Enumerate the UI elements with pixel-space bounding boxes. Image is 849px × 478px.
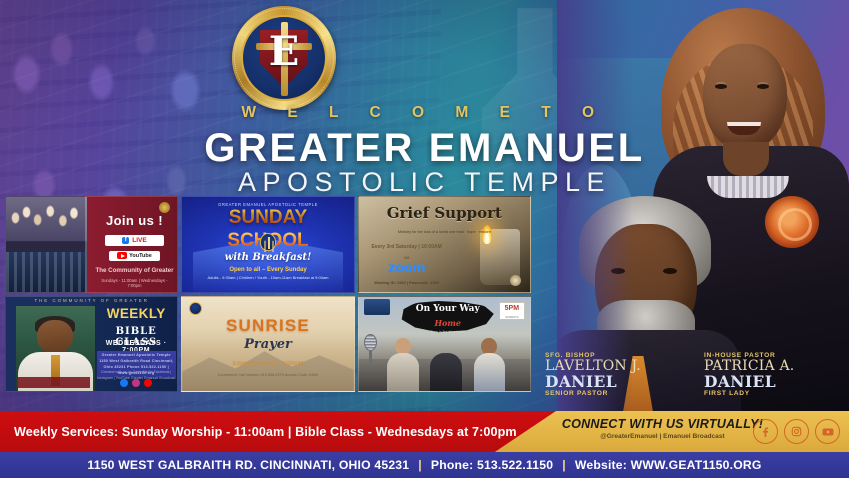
logo-monogram: E [232, 32, 336, 72]
facebook-icon[interactable] [753, 419, 778, 444]
grief-support-meeting: Meeting ID: 1150 | Passcode: 1150 [366, 280, 448, 285]
footer-phone: Phone: 513.522.1150 [431, 458, 553, 472]
broadcast-logo [364, 299, 390, 315]
church-welcome-banner: E W E L C O M E T O GREATER EMANUEL APOS… [0, 0, 849, 478]
bishop-eye-right [663, 268, 677, 274]
sunday-school-open-line: Open to all – Every Sunday [182, 267, 353, 273]
first-lady-last-name: DANIEL [704, 374, 849, 390]
sunday-school-script: with Breakfast! [182, 252, 353, 263]
flyer-sunrise-prayer[interactable]: SUNRISE Prayer Every Weekday | 6:00AM Co… [181, 296, 354, 393]
host-2 [428, 338, 463, 391]
flyer-grid: Join us ! f LIVE YouTube The Community o… [5, 196, 531, 392]
facebook-icon: f [122, 237, 129, 244]
footer-website[interactable]: Website: WWW.GEAT1150.ORG [575, 458, 762, 472]
pastor-couple-portrait [557, 0, 849, 411]
youtube-label: YouTube [129, 253, 152, 259]
flyer-grief-support[interactable]: Grief Support Ministry for the loss of a… [358, 196, 531, 293]
community-line: The Community of Greater [95, 267, 174, 274]
sunrise-when: Every Weekday | 6:00AM [182, 361, 353, 367]
sunday-school-eyebrow: GREATER EMANUEL APOSTOLIC TEMPLE [182, 202, 353, 207]
pastor-block-first-lady: IN-HOUSE PASTOR PATRICIA A. DANIEL FIRST… [690, 352, 849, 411]
flyer-on-your-way-home[interactable]: 5PM SUNDAYS On Your Way Home Tune in the… [358, 296, 531, 393]
sunday-school-details: Adults - 9:30am | Children / Youth - 10a… [182, 275, 353, 281]
flyer-sunday-school[interactable]: GREATER EMANUEL APOSTOLIC TEMPLE SUNDAY … [181, 196, 354, 293]
social-handle-text: @GreaterEmanuel | Emanuel Broadcast [560, 433, 765, 440]
church-subtitle: APOSTOLIC TEMPLE [0, 167, 849, 198]
host-3 [471, 338, 506, 391]
show-hosts [383, 338, 510, 391]
facebook-live-label: LIVE [132, 237, 146, 244]
oywh-line2: Home [403, 318, 492, 328]
oywh-tagline: Tune in the drive home [403, 330, 492, 334]
pastor-block-bishop: SFG. BISHOP LAVELTON J. DANIEL SENIOR PA… [531, 352, 690, 411]
grief-support-seal-icon [510, 275, 521, 286]
airtime-sub: SUNDAYS [500, 315, 524, 319]
grief-support-schedule: Every 3rd Saturday | 10:00AM [366, 244, 448, 250]
instagram-icon [132, 379, 140, 387]
church-logo: E [232, 6, 336, 110]
microphone-icon [364, 334, 377, 364]
youtube-icon [117, 252, 127, 259]
youtube-badge[interactable]: YouTube [109, 251, 160, 261]
bible-class-eyebrow: THE COMMUNITY OF GREATER [6, 298, 177, 303]
first-lady-eye-left [715, 84, 727, 89]
weekly-services-text: Weekly Services: Sunday Worship - 11:00a… [14, 411, 517, 452]
host-1-body [387, 353, 418, 391]
address-footer: 1150 WEST GALBRAITH RD. CINCINNATI, OHIO… [0, 452, 849, 478]
host-1 [385, 338, 420, 391]
facebook-icon [120, 379, 128, 387]
bishop-photo-head [37, 320, 73, 354]
bishop-last-name: DANIEL [545, 374, 690, 390]
microphone-stem [369, 351, 372, 364]
sunday-school-line1: SUNDAY [182, 209, 353, 226]
host-2-body [430, 353, 461, 391]
host-3-body [474, 353, 505, 391]
sunrise-line1: SUNRISE [182, 316, 353, 336]
social-links [753, 419, 840, 444]
airtime-badge: 5PM SUNDAYS [499, 302, 525, 320]
facebook-live-badge[interactable]: f LIVE [105, 235, 163, 246]
connect-virtually-text: CONNECT WITH US VIRTUALLY! [560, 417, 765, 431]
bishop-subtitle: SENIOR PASTOR [545, 390, 690, 397]
sunrise-details: Conference Call Number 513.548.2579 Acce… [182, 372, 353, 378]
youtube-icon[interactable] [815, 419, 840, 444]
oywh-line1: On Your Way [403, 304, 492, 314]
pastor-name-panel: SFG. BISHOP LAVELTON J. DANIEL SENIOR PA… [531, 352, 849, 411]
grief-support-via: via [366, 255, 448, 260]
join-us-title: Join us ! [95, 213, 174, 228]
instagram-icon[interactable] [784, 419, 809, 444]
flyer-emblem-icon [189, 302, 202, 315]
services-band: Weekly Services: Sunday Worship - 11:00a… [0, 411, 849, 452]
bible-class-socials [97, 379, 176, 387]
flyer-logo-icon [159, 202, 170, 213]
church-name-title: GREATER EMANUEL [0, 126, 849, 171]
sunrise-script: Prayer [182, 337, 353, 352]
first-lady-eye-right [757, 84, 769, 89]
flyer-weekly-bible-class[interactable]: THE COMMUNITY OF GREATER WEEKLY BIBLE CL… [5, 296, 178, 393]
grief-support-subtitle: Ministry for the loss of a loved one hea… [359, 229, 530, 235]
zoom-logo: zoom [366, 261, 448, 276]
bishop-nameplate [18, 377, 90, 388]
flyer-join-us[interactable]: Join us ! f LIVE YouTube The Community o… [5, 196, 178, 293]
bible-class-line1: WEEKLY [97, 306, 176, 321]
portrait-left-fade [557, 0, 633, 411]
youtube-icon [144, 379, 152, 387]
footer-sep-2: | [553, 458, 575, 472]
microphone-capsule [364, 334, 377, 351]
footer-address: 1150 WEST GALBRAITH RD. CINCINNATI, OHIO… [87, 458, 409, 472]
first-lady-subtitle: FIRST LADY [704, 390, 849, 397]
flyer-emblem-icon [260, 233, 276, 251]
airtime-value: 5PM [500, 303, 524, 315]
orange-rose-corsage [765, 196, 819, 248]
grief-support-title: Grief Support [359, 204, 530, 222]
service-times-line: Sundays - 11:00am | Wednesdays - 7:00pm [95, 278, 174, 288]
congregation-thumbnail [6, 197, 87, 292]
footer-sep-1: | [409, 458, 431, 472]
welcome-text: W E L C O M E T O [0, 104, 849, 122]
